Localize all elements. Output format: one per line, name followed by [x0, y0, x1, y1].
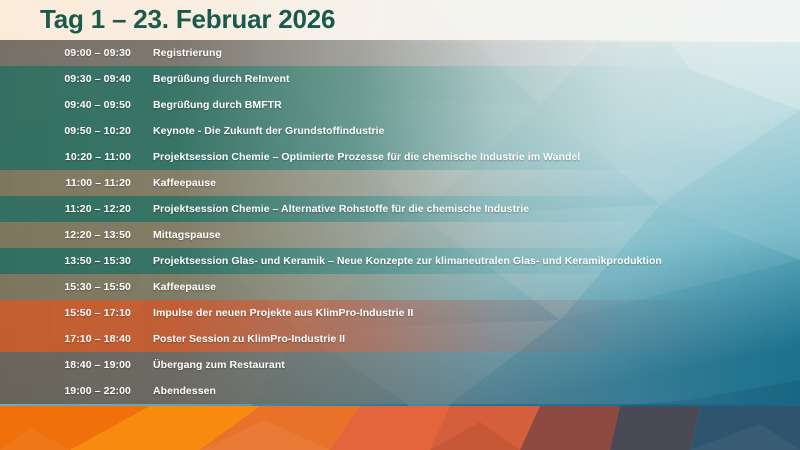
agenda-row-title: Poster Session zu KlimPro-Industrie II: [153, 333, 345, 345]
bottom-strip-polygons: [0, 406, 800, 450]
agenda-row: 18:40 – 19:00Übergang zum Restaurant: [0, 352, 800, 378]
agenda-row-cells: 09:50 – 10:20Keynote - Die Zukunft der G…: [0, 118, 800, 144]
agenda-row-time: 10:20 – 11:00: [0, 151, 131, 163]
agenda-row-time: 11:20 – 12:20: [0, 203, 131, 215]
agenda-row-time: 09:40 – 09:50: [0, 99, 131, 111]
page-title: Tag 1 – 23. Februar 2026: [40, 4, 335, 35]
agenda-row: 09:30 – 09:40Begrüßung durch ReInvent: [0, 66, 800, 92]
agenda-row: 11:20 – 12:20Projektsession Chemie – Alt…: [0, 196, 800, 222]
agenda-row: 12:20 – 13:50Mittagspause: [0, 222, 800, 248]
agenda-row-title: Abendessen: [153, 385, 216, 397]
agenda-row-time: 09:00 – 09:30: [0, 47, 131, 59]
agenda-row-title: Registrierung: [153, 47, 222, 59]
agenda-row-cells: 10:20 – 11:00Projektsession Chemie – Opt…: [0, 144, 800, 170]
agenda-row: 11:00 – 11:20Kaffeepause: [0, 170, 800, 196]
agenda-row-title: Kaffeepause: [153, 281, 216, 293]
agenda-row-title: Impulse der neuen Projekte aus KlimPro-I…: [153, 307, 413, 319]
agenda-row-time: 15:30 – 15:50: [0, 281, 131, 293]
agenda-table: 09:00 – 09:30Registrierung09:30 – 09:40B…: [0, 40, 800, 404]
agenda-row: 19:00 – 22:00Abendessen: [0, 378, 800, 404]
agenda-row-title: Projektsession Chemie – Alternative Rohs…: [153, 203, 529, 215]
agenda-row-time: 18:40 – 19:00: [0, 359, 131, 371]
agenda-row: 09:50 – 10:20Keynote - Die Zukunft der G…: [0, 118, 800, 144]
agenda-row-time: 13:50 – 15:30: [0, 255, 131, 267]
agenda-row: 09:00 – 09:30Registrierung: [0, 40, 800, 66]
agenda-row: 15:30 – 15:50Kaffeepause: [0, 274, 800, 300]
agenda-row-title: Keynote - Die Zukunft der Grundstoffindu…: [153, 125, 385, 137]
agenda-row-time: 09:50 – 10:20: [0, 125, 131, 137]
agenda-row-title: Projektsession Glas- und Keramik – Neue …: [153, 255, 662, 267]
agenda-row-time: 15:50 – 17:10: [0, 307, 131, 319]
agenda-row-cells: 11:00 – 11:20Kaffeepause: [0, 170, 800, 196]
agenda-row: 09:40 – 09:50Begrüßung durch BMFTR: [0, 92, 800, 118]
agenda-row: 17:10 – 18:40Poster Session zu KlimPro-I…: [0, 326, 800, 352]
agenda-row-title: Mittagspause: [153, 229, 221, 241]
agenda-row-cells: 12:20 – 13:50Mittagspause: [0, 222, 800, 248]
bottom-accent-strip: [0, 406, 800, 450]
agenda-row-cells: 19:00 – 22:00Abendessen: [0, 378, 800, 404]
agenda-row: 15:50 – 17:10Impulse der neuen Projekte …: [0, 300, 800, 326]
agenda-row-cells: 09:40 – 09:50Begrüßung durch BMFTR: [0, 92, 800, 118]
agenda-row-time: 12:20 – 13:50: [0, 229, 131, 241]
agenda-row-cells: 11:20 – 12:20Projektsession Chemie – Alt…: [0, 196, 800, 222]
agenda-slide: Tag 1 – 23. Februar 2026 09:00 – 09:30Re…: [0, 0, 800, 450]
agenda-row-title: Begrüßung durch BMFTR: [153, 99, 282, 111]
agenda-row-time: 11:00 – 11:20: [0, 177, 131, 189]
agenda-row: 13:50 – 15:30Projektsession Glas- und Ke…: [0, 248, 800, 274]
agenda-row-cells: 15:50 – 17:10Impulse der neuen Projekte …: [0, 300, 800, 326]
agenda-row-title: Projektsession Chemie – Optimierte Proze…: [153, 151, 580, 163]
agenda-row-title: Übergang zum Restaurant: [153, 359, 285, 371]
agenda-row-cells: 17:10 – 18:40Poster Session zu KlimPro-I…: [0, 326, 800, 352]
agenda-row-title: Begrüßung durch ReInvent: [153, 73, 290, 85]
agenda-row-cells: 13:50 – 15:30Projektsession Glas- und Ke…: [0, 248, 800, 274]
agenda-row-cells: 09:30 – 09:40Begrüßung durch ReInvent: [0, 66, 800, 92]
agenda-row-time: 17:10 – 18:40: [0, 333, 131, 345]
agenda-row-time: 19:00 – 22:00: [0, 385, 131, 397]
agenda-row-cells: 15:30 – 15:50Kaffeepause: [0, 274, 800, 300]
agenda-row-cells: 18:40 – 19:00Übergang zum Restaurant: [0, 352, 800, 378]
agenda-row-time: 09:30 – 09:40: [0, 73, 131, 85]
agenda-row-cells: 09:00 – 09:30Registrierung: [0, 40, 800, 66]
agenda-row-title: Kaffeepause: [153, 177, 216, 189]
agenda-row: 10:20 – 11:00Projektsession Chemie – Opt…: [0, 144, 800, 170]
